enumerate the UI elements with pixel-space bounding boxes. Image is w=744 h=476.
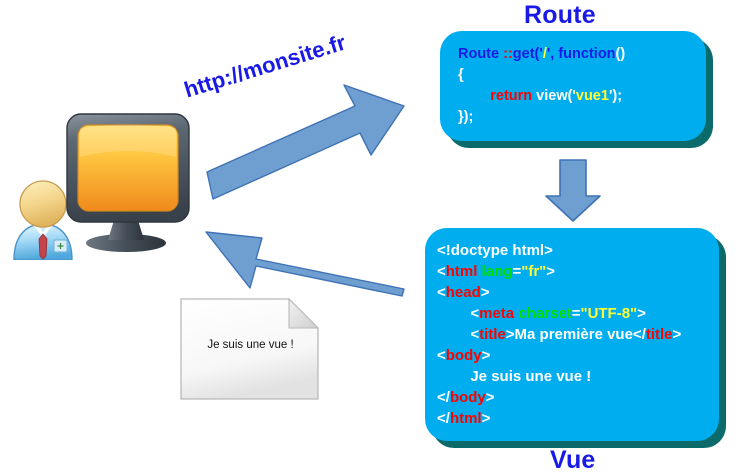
diagram-canvas: Je suis une vue ! http://monsite.fr Rout… [0, 0, 744, 476]
route-code-box: Route ::get('/', function() { return vie… [440, 31, 706, 141]
document-page-icon: Je suis une vue ! [179, 297, 322, 401]
note-text: Je suis une vue ! [179, 339, 322, 351]
request-url-label: http://monsite.fr [181, 30, 349, 104]
vue-code-content: <!doctype html> <html lang="fr"> <head> … [437, 240, 719, 429]
vue-code-box: <!doctype html> <html lang="fr"> <head> … [425, 228, 719, 441]
arrow-request-icon [207, 85, 404, 199]
arrow-response-icon [206, 232, 404, 296]
vue-section-title: Vue [550, 446, 596, 475]
route-code-content: Route ::get('/', function() { return vie… [458, 44, 706, 128]
computer-monitor-icon [62, 112, 194, 252]
arrow-down-icon [546, 160, 600, 221]
route-section-title: Route [524, 1, 596, 30]
